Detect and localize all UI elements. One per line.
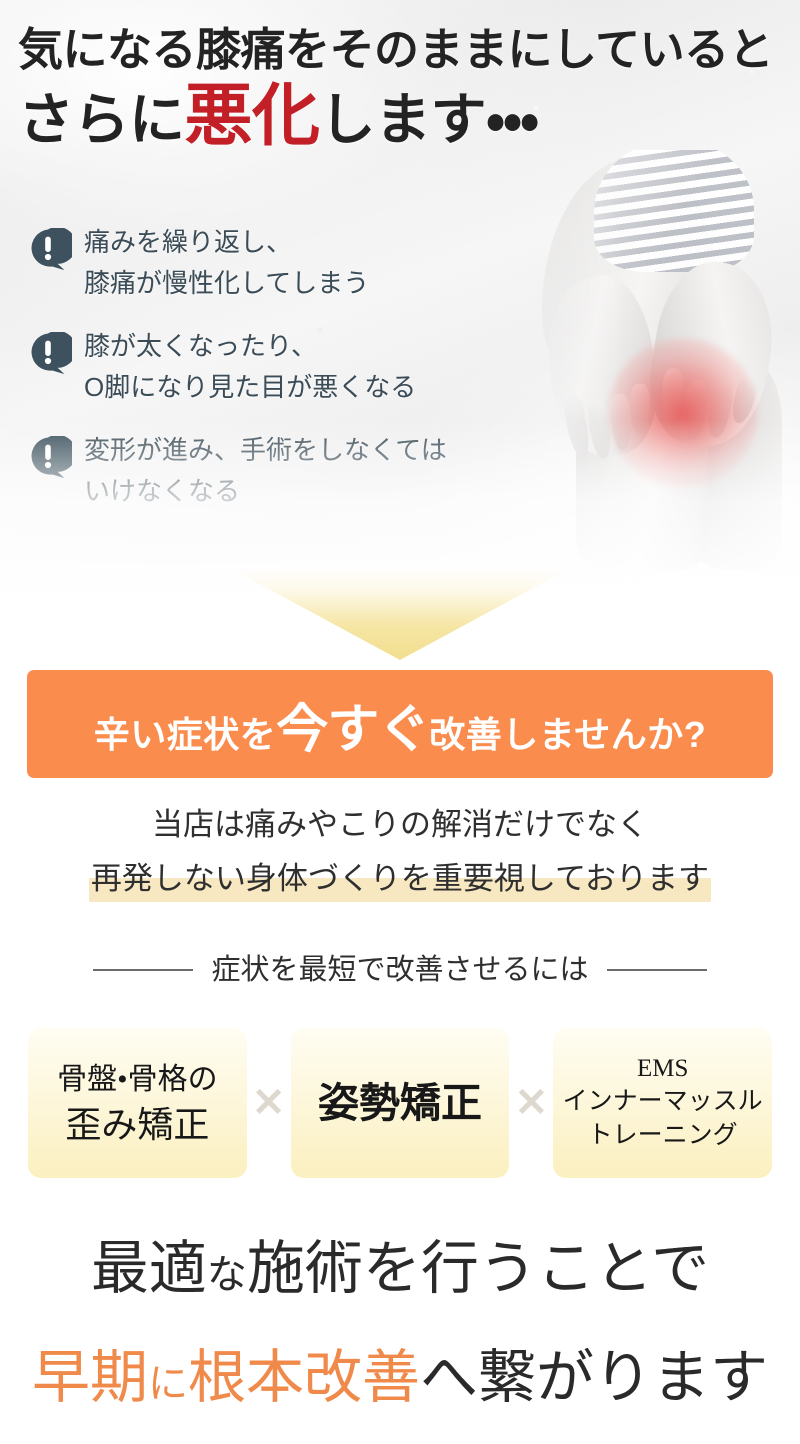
- method-card-ems[interactable]: EMS インナーマッスル トレーニング: [553, 1028, 772, 1178]
- method-card-line-2: 歪み矯正: [65, 1102, 209, 1148]
- method-card-pelvis-skeleton[interactable]: 骨盤•骨格の 歪み矯正: [28, 1028, 247, 1178]
- lead-paragraph: 当店は痛みやこりの解消だけでなく 再発しない身体づくりを重要視しております: [0, 800, 800, 904]
- headline-emphasis-akka: 悪化: [185, 78, 320, 154]
- section-transition: [0, 568, 800, 668]
- method-card-line-2: インナーマッスル: [563, 1085, 763, 1119]
- exclamation-bubble-icon: [28, 332, 72, 376]
- closing-statement: 最適な施術を行うことで 早期に根本改善へ繋がります: [0, 1222, 800, 1440]
- headline-line-1: 気になる膝痛をそのままにしていると: [0, 18, 800, 82]
- striped-shirt: [594, 150, 754, 272]
- closing-line-2: 早期に根本改善へ繋がります: [0, 1331, 800, 1440]
- headline-prefix: さらに: [18, 88, 185, 151]
- list-item: 膝が太くなったり、 O脚になり見た目が悪くなる: [20, 326, 540, 408]
- headline-ellipsis: ・・・: [486, 88, 537, 151]
- method-card-line-1: EMS: [637, 1053, 688, 1085]
- multiply-icon: ✕: [247, 1028, 291, 1178]
- cta-text-part1: 辛い症状を: [94, 706, 277, 758]
- closing-line2-part4: へ繋がります: [420, 1345, 768, 1410]
- down-arrow-icon: [230, 568, 570, 660]
- lead-line-2-label: 再発しない身体づくりを重要視しております: [91, 861, 709, 896]
- divider-rule-right: [607, 969, 707, 971]
- lead-line-2: 再発しない身体づくりを重要視しております: [91, 854, 709, 904]
- closing-line2-part2: に: [148, 1361, 188, 1406]
- cta-banner-text: 辛い症状を今すぐ改善しませんか?: [94, 687, 706, 762]
- section-divider: 症状を最短で改善させるには: [0, 950, 800, 990]
- closing-line1-part2: な: [207, 1252, 247, 1297]
- closing-line2-part1: 早期: [32, 1345, 148, 1410]
- divider-rule-left: [93, 969, 193, 971]
- method-card-line-3: トレーニング: [588, 1119, 738, 1153]
- list-item-label: 痛みを繰り返し、 膝痛が慢性化してしまう: [84, 222, 369, 304]
- headline-line-2: さらに悪化します・・・: [0, 82, 800, 158]
- list-item-label: 膝が太くなったり、 O脚になり見た目が悪くなる: [84, 326, 416, 408]
- method-card-posture[interactable]: 姿勢矯正: [291, 1028, 510, 1178]
- landing-page: 気になる膝痛をそのままにしていると さらに悪化します・・・ 痛みを繰り返し、 膝…: [0, 0, 800, 1444]
- multiply-icon: ✕: [509, 1028, 553, 1178]
- closing-line-1: 最適な施術を行うことで: [0, 1222, 800, 1331]
- cta-text-emphasis: 今すぐ: [276, 687, 429, 762]
- list-item: 痛みを繰り返し、 膝痛が慢性化してしまう: [20, 222, 540, 304]
- cta-text-part3: 改善しませんか?: [429, 706, 706, 758]
- method-card-line-1: 姿勢矯正: [318, 1078, 482, 1128]
- closing-line2-part3: 根本改善: [188, 1345, 420, 1410]
- method-cards: 骨盤•骨格の 歪み矯正 ✕ 姿勢矯正 ✕ EMS インナーマッスル トレーニング: [28, 1028, 772, 1178]
- headline-suffix: します: [320, 88, 487, 151]
- exclamation-bubble-icon: [28, 228, 72, 272]
- divider-label: 症状を最短で改善させるには: [211, 950, 588, 990]
- lead-line-1: 当店は痛みやこりの解消だけでなく: [152, 800, 648, 850]
- cta-banner[interactable]: 辛い症状を今すぐ改善しませんか?: [27, 670, 773, 778]
- closing-line1-part1: 最適: [91, 1236, 207, 1301]
- hero-section: 気になる膝痛をそのままにしていると さらに悪化します・・・ 痛みを繰り返し、 膝…: [0, 0, 800, 600]
- hero-headline: 気になる膝痛をそのままにしていると さらに悪化します・・・: [0, 18, 800, 158]
- method-card-line-1: 骨盤•骨格の: [57, 1058, 218, 1102]
- closing-line1-part3: 施術を行うことで: [247, 1236, 709, 1301]
